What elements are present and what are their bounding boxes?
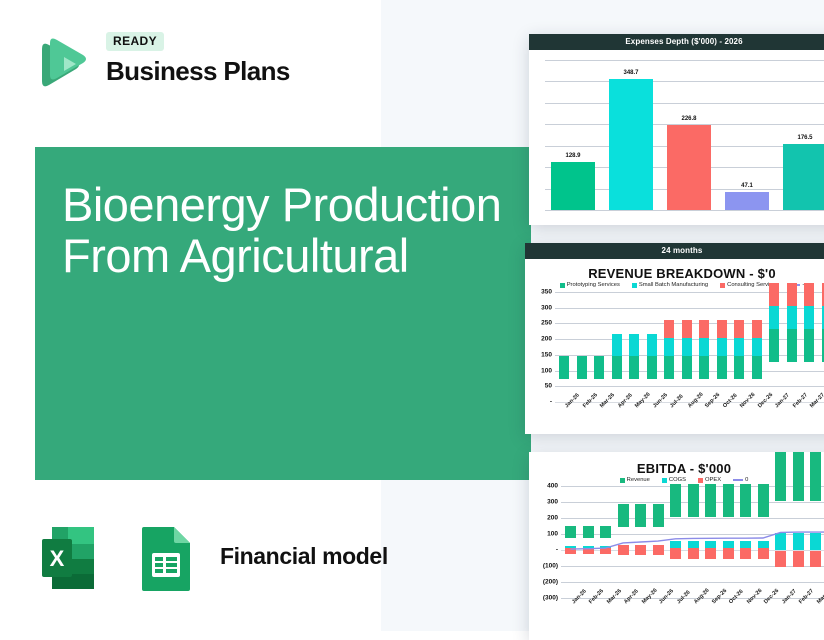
c2-plot-ytick: 50: [545, 383, 552, 390]
c2-plot-bar-segment: [804, 283, 814, 306]
c2-plot-bar-segment: [664, 320, 674, 338]
legend-color-swatch: [662, 478, 667, 483]
c2-plot-gridline: [555, 386, 824, 387]
brand-name: Business Plans: [106, 56, 290, 87]
c2-plot-bar-segment: [769, 283, 779, 306]
c2-plot-ytick: 150: [541, 351, 552, 358]
c2-plot-ytick: -: [550, 399, 552, 406]
c2-plot-bar-segment: [577, 356, 587, 379]
c2-plot-xtick: May-26: [634, 392, 652, 410]
c2-legend-item: Prototyping Services: [560, 282, 620, 288]
svg-text:X: X: [50, 546, 65, 571]
chart1-gridline: [545, 60, 824, 61]
c2-plot-xtick: Aug-26: [687, 392, 705, 410]
c2-plot-bar-segment: [559, 356, 569, 379]
chart3-body: EBITDA - $'000 RevenueCOGSOPEX0 40030020…: [529, 452, 824, 600]
chart1-titlebar: Expenses Depth ($'000) - 2026: [529, 34, 824, 50]
c2-plot-xtick: Feb-26: [582, 392, 599, 409]
ready-badge: READY: [106, 32, 164, 51]
play-triangles-logo-icon: [30, 33, 94, 97]
c3-plot-ytick: (200): [543, 579, 558, 586]
c2-plot-bar-segment: [717, 320, 727, 338]
chart2-plot: 35030025020015010050-Jan-26Feb-26Mar-26A…: [555, 292, 824, 402]
c3-plot-ytick: -: [556, 547, 558, 554]
c2-plot-ytick: 200: [541, 336, 552, 343]
chart1-gridline: [545, 210, 824, 211]
c2-plot-bar-segment: [682, 320, 692, 338]
c3-legend-item: COGS: [662, 477, 686, 483]
legend-color-swatch: [720, 283, 725, 288]
c3-legend-label: 0: [745, 477, 748, 483]
brand-text-wrap: READY Business Plans: [106, 32, 290, 87]
c2-plot-bar-segment: [734, 356, 744, 379]
chart1-bar: 226.8: [667, 125, 711, 210]
hero-green-block: Bioenergy Production From Agricultural: [35, 147, 531, 480]
c3-plot-ytick: 100: [547, 531, 558, 538]
chart1-plot: 128.9348.7226.847.1176.5: [545, 60, 824, 210]
c2-plot-xtick: Sep-26: [704, 392, 721, 409]
c2-legend-item: Small Batch Manufacturing: [632, 282, 708, 288]
c3-plot-line-series: [561, 486, 824, 598]
c2-plot-bar-segment: [647, 356, 657, 379]
c2-plot-xtick: Mar-26: [599, 392, 616, 409]
chart2-legend: Prototyping ServicesSmall Batch Manufact…: [531, 282, 824, 288]
c3-plot-ytick: (100): [543, 563, 558, 570]
c3-legend-item: 0: [733, 477, 748, 483]
footer-label: Financial model: [220, 543, 388, 570]
legend-color-swatch: [632, 283, 637, 288]
c3-plot-ytick: 300: [547, 499, 558, 506]
chart1-bar-value-label: 226.8: [659, 116, 719, 122]
chart-card-expenses-depth[interactable]: Expenses Depth ($'000) - 2026 128.9348.7…: [529, 34, 824, 225]
chart2-titlebar: 24 months: [525, 243, 824, 259]
c2-plot-bar-segment: [594, 356, 604, 379]
c2-plot-xtick: Jun-26: [652, 392, 669, 409]
c2-plot-xtick: Jan-26: [564, 392, 581, 409]
footer-block: X Financial model: [34, 521, 454, 601]
c2-plot-bar-segment: [629, 356, 639, 379]
c2-plot-xtick: Nov-26: [739, 392, 756, 409]
chart1-gridline: [545, 81, 824, 82]
page-title: Bioenergy Production From Agricultural: [62, 179, 521, 281]
c3-legend-label: OPEX: [705, 477, 721, 483]
c2-plot-bar-segment: [752, 320, 762, 338]
c3-plot-ytick: 400: [547, 483, 558, 490]
c2-plot-bar-segment: [647, 334, 657, 356]
chart1-bar-value-label: 47.1: [717, 183, 777, 189]
c2-plot-ytick: 350: [541, 289, 552, 296]
chart1-gridline: [545, 103, 824, 104]
c2-plot-bar-segment: [629, 334, 639, 356]
legend-color-swatch: [620, 478, 625, 483]
c3-legend-item: OPEX: [698, 477, 721, 483]
c2-plot-xtick: Dec-26: [757, 392, 774, 409]
chart1-bar-value-label: 128.9: [543, 153, 603, 159]
chart1-bar-value-label: 348.7: [601, 70, 661, 76]
c2-plot-xtick: Feb-27: [792, 392, 809, 409]
brand-logo-block: READY Business Plans: [30, 30, 350, 100]
chart2-body: REVENUE BREAKDOWN - $'0 Prototyping Serv…: [525, 259, 824, 404]
chart1-bar: 128.9: [551, 162, 595, 210]
chart-card-ebitda[interactable]: EBITDA - $'000 RevenueCOGSOPEX0 40030020…: [529, 452, 824, 640]
c2-plot-ytick: 100: [541, 367, 552, 374]
c2-plot-xtick: Mar-27: [809, 392, 824, 409]
c3-legend-label: Revenue: [627, 477, 650, 483]
microsoft-excel-icon: X: [34, 521, 108, 595]
legend-color-swatch: [560, 283, 565, 288]
chart3-plot: 400300200100-(100)(200)(300)Jan-26Feb-26…: [561, 486, 824, 598]
c3-legend-item: Revenue: [620, 477, 650, 483]
c2-legend-label: Prototyping Services: [567, 282, 620, 288]
c2-plot-bar-segment: [787, 283, 797, 306]
c2-plot-gridline: [555, 292, 824, 293]
chart1-bar: 348.7: [609, 79, 653, 210]
c2-plot-bar-segment: [664, 356, 674, 379]
chart1-bar: 176.5: [783, 144, 824, 210]
chart1-bar: 47.1: [725, 192, 769, 210]
c2-plot-bar-segment: [699, 320, 709, 338]
c3-plot-ytick: 200: [547, 515, 558, 522]
c2-plot-bar-segment: [699, 356, 709, 379]
google-sheets-icon: [130, 521, 204, 595]
c2-plot-xtick: Jan-27: [774, 392, 791, 409]
c2-plot-bar-segment: [717, 356, 727, 379]
chart-card-revenue-breakdown[interactable]: 24 months REVENUE BREAKDOWN - $'0 Protot…: [525, 243, 824, 434]
c2-plot-xtick: Oct-26: [722, 393, 739, 410]
c2-plot-gridline: [555, 308, 824, 309]
legend-color-swatch: [698, 478, 703, 483]
chart1-bar-value-label: 176.5: [775, 135, 824, 141]
c2-plot-bar-segment: [682, 356, 692, 379]
c3-legend-label: COGS: [669, 477, 686, 483]
c2-plot-ytick: 250: [541, 320, 552, 327]
c2-plot-ytick: 300: [541, 304, 552, 311]
c2-plot-xtick: Apr-26: [617, 392, 634, 409]
c2-plot-bar-segment: [734, 320, 744, 338]
c3-plot-ytick: (300): [543, 595, 558, 602]
legend-line-swatch: [733, 479, 743, 481]
c2-legend-label: Small Batch Manufacturing: [639, 282, 708, 288]
c2-plot-bar-segment: [752, 356, 762, 379]
c2-plot-bar-segment: [612, 356, 622, 379]
c2-plot-bar-segment: [612, 334, 622, 356]
chart2-title: REVENUE BREAKDOWN - $'0: [531, 266, 824, 281]
chart1-body: 128.9348.7226.847.1176.5: [529, 50, 824, 212]
